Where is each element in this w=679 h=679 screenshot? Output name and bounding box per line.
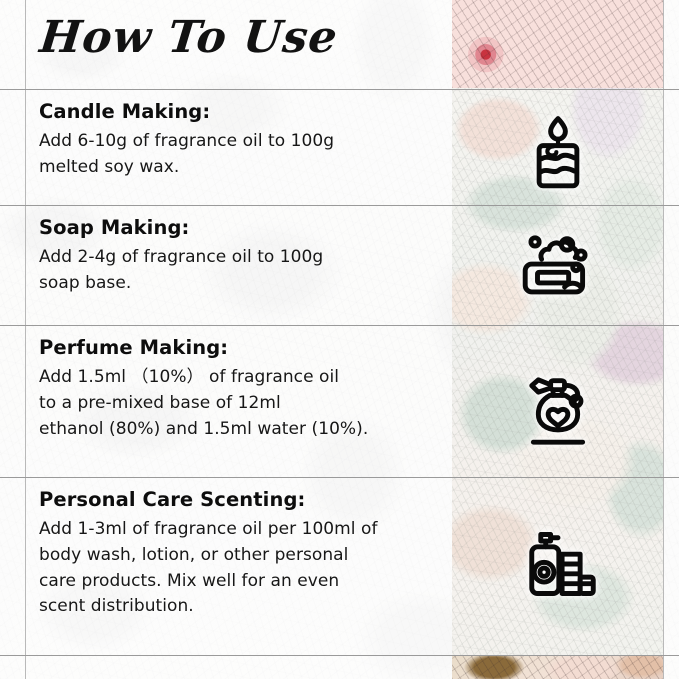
bottom-rose-photo (452, 656, 663, 679)
page-title: How To Use (37, 12, 340, 63)
soap-bar-icon (517, 228, 599, 310)
divider-rule-3 (0, 325, 679, 326)
section-perfume-making: Perfume Making: Add 1.5ml （10%） of fragr… (39, 336, 439, 442)
section-heading-personal-care-scenting: Personal Care Scenting: (39, 488, 439, 511)
section-heading-perfume-making: Perfume Making: (39, 336, 439, 359)
perfume-bottle-icon (517, 370, 599, 452)
rose-photo-linework-bottom (452, 656, 663, 679)
section-soap-making: Soap Making: Add 2-4g of fragrance oil t… (39, 216, 439, 297)
section-candle-making: Candle Making: Add 6-10g of fragrance oi… (39, 100, 439, 181)
divider-rule-1 (0, 89, 679, 90)
section-heading-candle-making: Candle Making: (39, 100, 439, 123)
section-heading-soap-making: Soap Making: (39, 216, 439, 239)
section-body-personal-care-scenting: Add 1-3ml of fragrance oil per 100ml of … (39, 517, 439, 620)
right-vertical-rule (663, 0, 664, 679)
personal-care-products-icon (517, 523, 599, 605)
section-body-candle-making: Add 6-10g of fragrance oil to 100g melte… (39, 129, 439, 181)
candle-icon (517, 112, 599, 194)
divider-rule-5 (0, 655, 679, 656)
section-body-soap-making: Add 2-4g of fragrance oil to 100g soap b… (39, 245, 439, 297)
how-to-use-infographic: How To Use Candle Making: Add 6-10g of f… (0, 0, 679, 679)
divider-rule-2 (0, 205, 679, 206)
rose-photo-linework (452, 0, 663, 88)
top-rose-photo (452, 0, 663, 88)
section-personal-care-scenting: Personal Care Scenting: Add 1-3ml of fra… (39, 488, 439, 620)
divider-rule-4 (0, 477, 679, 478)
section-body-perfume-making: Add 1.5ml （10%） of fragrance oil to a pr… (39, 365, 439, 442)
left-vertical-rule (25, 0, 26, 679)
